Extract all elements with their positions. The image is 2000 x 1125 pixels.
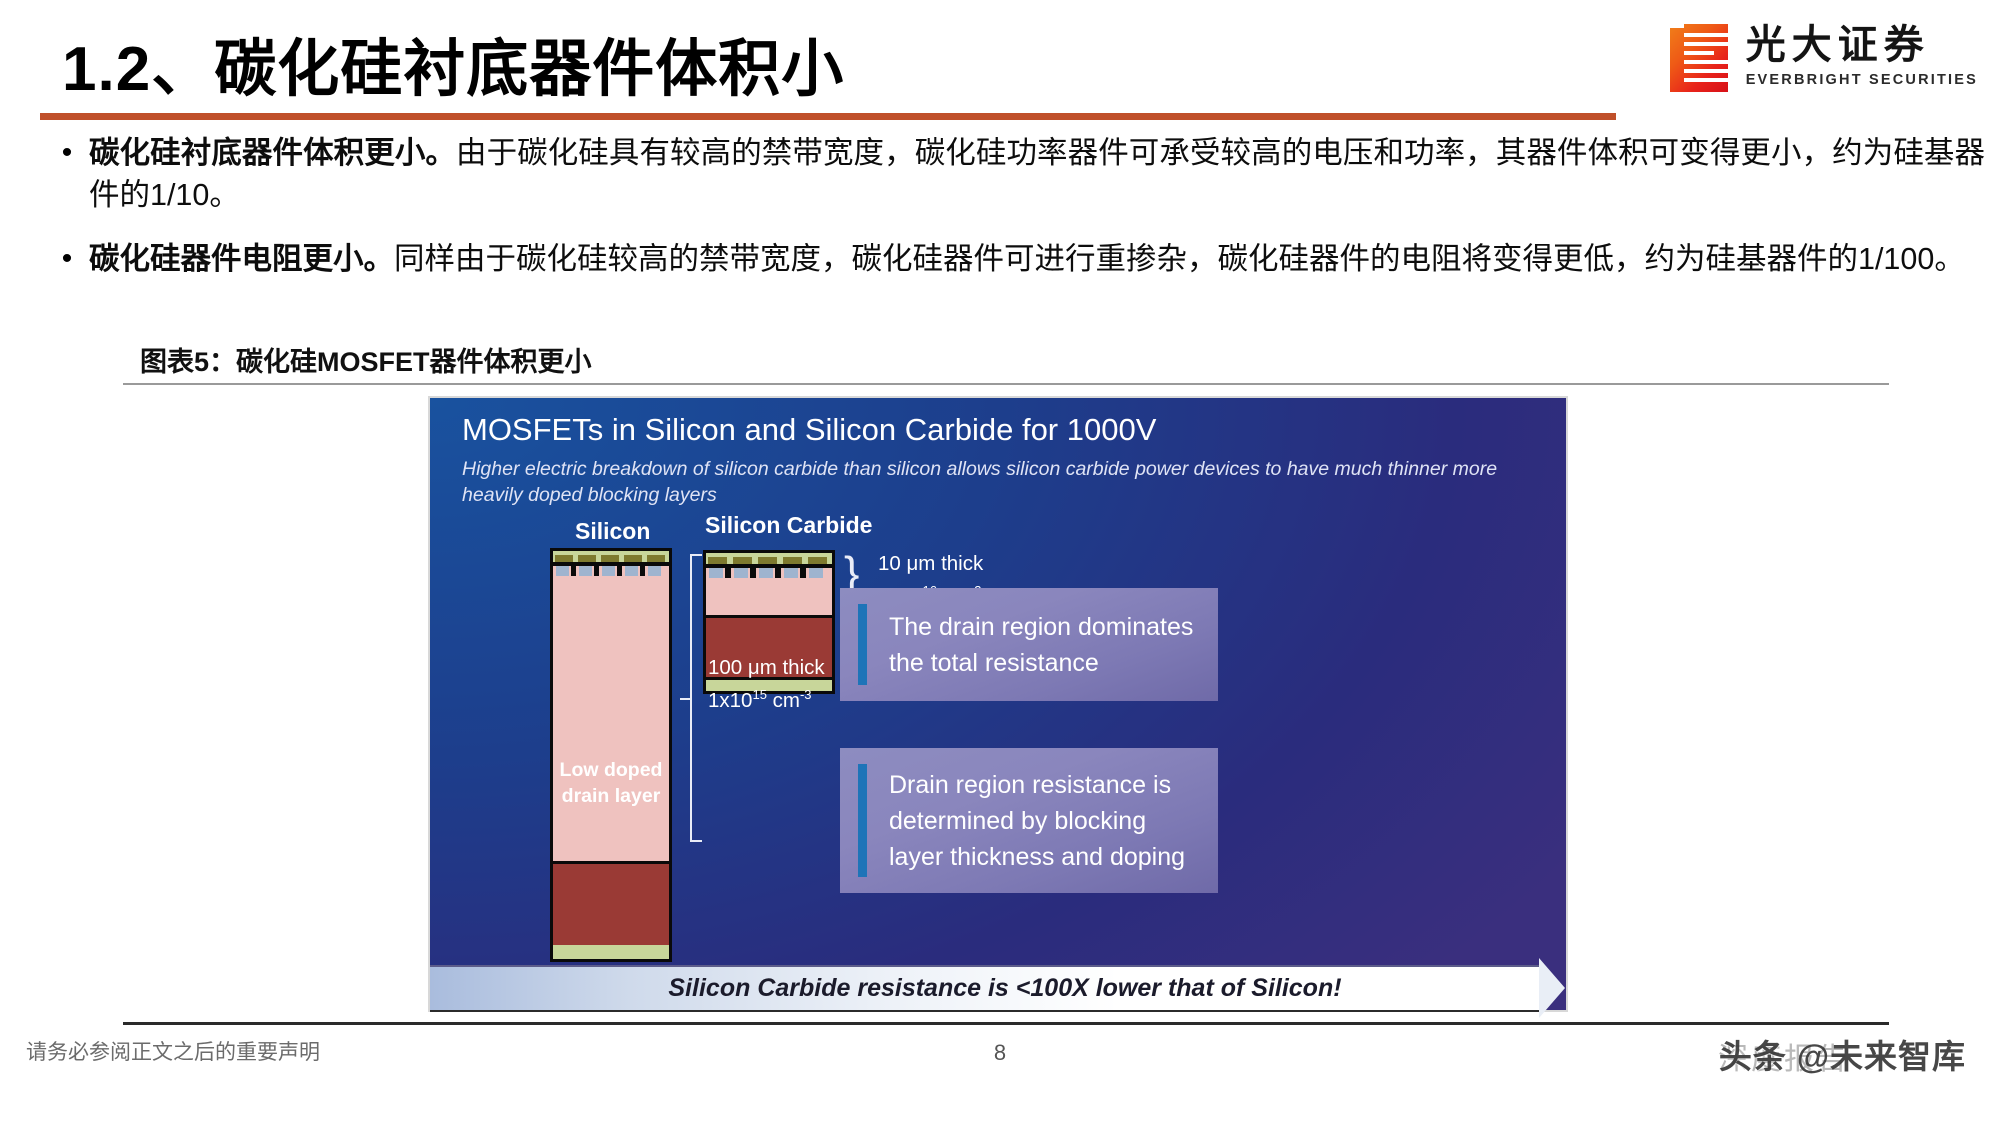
- sic-thickness: 10 μm thick: [878, 552, 983, 575]
- watermark-badge: 头条: [1719, 1030, 1787, 1078]
- si-dimension-note: 100 μm thick 1x1015 cm-3: [708, 654, 825, 714]
- banner-body: Silicon Carbide resistance is <100X lowe…: [430, 965, 1540, 1012]
- list-item: • 碳化硅衬底器件体积更小。由于碳化硅具有较高的禁带宽度，碳化硅功率器件可承受较…: [45, 132, 1985, 216]
- silicon-gate-cells: [553, 551, 669, 577]
- bullet-marker: •: [45, 132, 89, 216]
- exhibit-caption: 图表5：碳化硅MOSFET器件体积更小: [140, 340, 592, 379]
- callout-text: The drain region dominates the total res…: [889, 609, 1200, 681]
- everbright-e-logo-icon: [1670, 24, 1728, 92]
- brand-name-en: EVERBRIGHT SECURITIES: [1746, 72, 1978, 88]
- si-doping-unit: cm: [773, 689, 800, 712]
- figure-panel: MOSFETs in Silicon and Silicon Carbide f…: [428, 396, 1568, 1012]
- caption-divider: [123, 383, 1889, 385]
- figure-conclusion-banner: Silicon Carbide resistance is <100X lowe…: [430, 965, 1566, 1012]
- callout-box-drain-determined-by: Drain region resistance is determined by…: [840, 748, 1218, 893]
- list-item: • 碳化硅器件电阻更小。同样由于碳化硅较高的禁带宽度，碳化硅器件可进行重掺杂，碳…: [45, 238, 1985, 280]
- bullet-text: 碳化硅衬底器件体积更小。由于碳化硅具有较高的禁带宽度，碳化硅功率器件可承受较高的…: [89, 132, 1985, 216]
- slide-root: 1.2、碳化硅衬底器件体积小 光大证券 EVERBRIGHT SECURITIE…: [0, 0, 2000, 1125]
- bullet-lead: 碳化硅衬底器件体积更小。: [89, 136, 456, 170]
- silicon-carbide-column-label: Silicon Carbide: [705, 512, 872, 539]
- si-doping-base: 1x10: [708, 689, 752, 712]
- watermark: 头条 @未来智库: [1719, 1030, 1966, 1078]
- page-number: 8: [0, 1040, 2000, 1066]
- silicon-carbide-drift-layer: [706, 579, 832, 615]
- page-title: 1.2、碳化硅衬底器件体积小: [62, 18, 844, 108]
- banner-arrow-icon: [1540, 965, 1566, 1012]
- banner-text: Silicon Carbide resistance is <100X lowe…: [430, 974, 1540, 1003]
- silicon-drain-label-line1: Low doped: [553, 757, 669, 783]
- silicon-substrate-layer: [553, 861, 669, 945]
- callout-text: Drain region resistance is determined by…: [889, 767, 1200, 875]
- silicon-device-stack: Low doped drain layer: [550, 548, 672, 962]
- figure-subtitle: Higher electric breakdown of silicon car…: [462, 456, 1522, 508]
- figure-title: MOSFETs in Silicon and Silicon Carbide f…: [462, 412, 1156, 448]
- callout-accent-bar: [858, 604, 867, 685]
- si-doping-exp: 15: [752, 687, 766, 702]
- silicon-drain-label-line2: drain layer: [553, 783, 669, 809]
- silicon-column-label: Silicon: [575, 518, 650, 545]
- callout-accent-bar: [858, 764, 867, 877]
- si-dimension-brace: [684, 554, 698, 842]
- watermark-handle: @未来智库: [1797, 1030, 1966, 1078]
- brand-logo: 光大证券 EVERBRIGHT SECURITIES: [1670, 24, 1978, 92]
- title-divider: [40, 113, 1616, 120]
- brand-name-cn: 光大证券: [1746, 24, 1978, 66]
- bullet-text: 碳化硅器件电阻更小。同样由于碳化硅较高的禁带宽度，碳化硅器件可进行重掺杂，碳化硅…: [89, 238, 1985, 280]
- callout-box-drain-dominates: The drain region dominates the total res…: [840, 588, 1218, 701]
- silicon-carbide-gate-cells: [706, 553, 832, 579]
- silicon-contact-layer: [553, 945, 669, 959]
- silicon-drain-layer: Low doped drain layer: [553, 577, 669, 861]
- si-thickness: 100 μm thick: [708, 656, 825, 679]
- si-doping-unit-exp: -3: [800, 687, 812, 702]
- bullet-rest: 同样由于碳化硅较高的禁带宽度，碳化硅器件可进行重掺杂，碳化硅器件的电阻将变得更低…: [394, 242, 1965, 276]
- bullet-lead: 碳化硅器件电阻更小。: [89, 242, 394, 276]
- bullet-list: • 碳化硅衬底器件体积更小。由于碳化硅具有较高的禁带宽度，碳化硅功率器件可承受较…: [45, 132, 1985, 302]
- bullet-marker: •: [45, 238, 89, 280]
- footer-divider: [123, 1022, 1889, 1025]
